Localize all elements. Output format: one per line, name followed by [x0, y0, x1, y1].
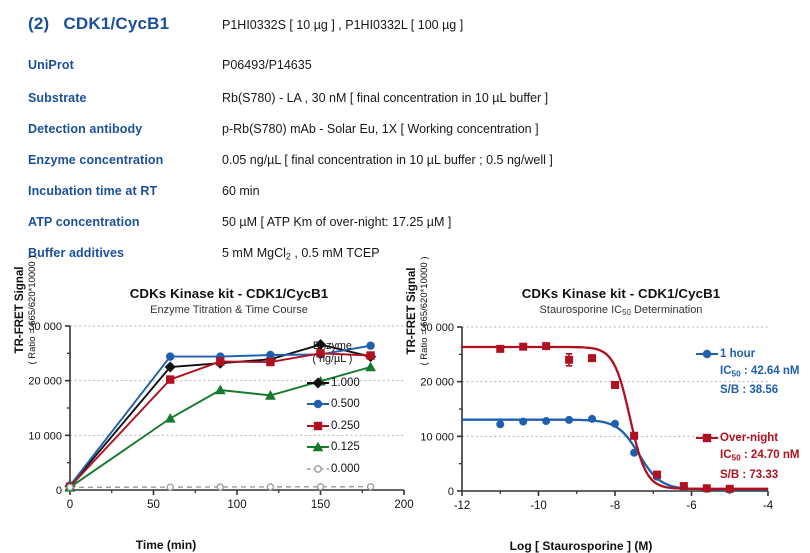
- legend-marker-icon: [305, 376, 331, 390]
- legend-item-enzyme-0.250[interactable]: 0.250: [305, 416, 360, 435]
- chart-left-legend: Enzyme ( ng/µL ) 1.0000.5000.2500.1250.0…: [305, 340, 360, 481]
- chart-left-x-axis-title: Time (min): [0, 538, 366, 552]
- legend-item-enzyme-0.125[interactable]: 0.125: [305, 438, 360, 457]
- spec-row-title: (2)CDK1/CycB1 P1HI0332S [ 10 µg ] , P1HI…: [28, 14, 728, 48]
- atp-concentration-label: ATP concentration: [28, 215, 222, 229]
- svg-text:100: 100: [227, 499, 246, 511]
- legend-label: 0.125: [331, 441, 360, 453]
- incubation-time-value: 60 min: [222, 184, 260, 198]
- svg-text:-10: -10: [530, 500, 547, 512]
- svg-text:-6: -6: [686, 500, 696, 512]
- spec-row-uniprot: UniProt P06493/P14635: [28, 58, 728, 85]
- chart-left-subtitle: Enzyme Titration & Time Course: [18, 304, 418, 316]
- spec-row-enzyme-concentration: Enzyme concentration 0.05 ng/µL [ final …: [28, 153, 728, 180]
- svg-text:0: 0: [56, 485, 62, 497]
- incubation-time-label: Incubation time at RT: [28, 184, 222, 198]
- svg-text:0: 0: [67, 499, 73, 511]
- substrate-value: Rb(S780) - LA , 30 nM [ final concentrat…: [222, 91, 548, 105]
- svg-text:10 000: 10 000: [420, 432, 454, 444]
- detection-antibody-label: Detection antibody: [28, 122, 222, 136]
- svg-text:30 000: 30 000: [28, 321, 62, 333]
- svg-text:-12: -12: [454, 500, 471, 512]
- legend-label: 0.500: [331, 398, 360, 410]
- legend-label: 0.000: [331, 463, 360, 475]
- legend-ic50-value: IC50 : 24.70 nM: [720, 447, 810, 466]
- svg-text:-4: -4: [763, 500, 774, 512]
- legend-item-enzyme-0.000[interactable]: 0.000: [305, 459, 360, 478]
- chart-left-title: CDKs Kinase kit - CDK1/CycB1: [18, 286, 418, 301]
- detection-antibody-value: p-Rb(S780) mAb - Solar Eu, 1X [ Working …: [222, 122, 539, 136]
- legend-item-enzyme-0.500[interactable]: 0.500: [305, 395, 360, 414]
- legend-label: 0.250: [331, 420, 360, 432]
- uniprot-label: UniProt: [28, 58, 222, 72]
- enzyme-concentration-value: 0.05 ng/µL [ final concentration in 10 µ…: [222, 153, 553, 167]
- svg-text:30 000: 30 000: [420, 322, 454, 334]
- spec-row-buffer-additives: Buffer additives 5 mM MgCl2 , 0.5 mM TCE…: [28, 246, 728, 273]
- legend-ic50-value: IC50 : 42.64 nM: [720, 363, 810, 382]
- buffer-additives-value: 5 mM MgCl2 , 0.5 mM TCEP: [222, 246, 380, 262]
- spec-row-atp-concentration: ATP concentration 50 µM [ ATP Km of over…: [28, 215, 728, 242]
- target-title: (2)CDK1/CycB1: [28, 14, 222, 34]
- chart-right-subtitle: Staurosporine IC50 Determination: [410, 304, 808, 317]
- legend-left-heading: Enzyme ( ng/µL ): [305, 340, 360, 366]
- chart-right-x-axis-title: Log [ Staurosporine ] (M): [382, 539, 780, 553]
- spec-table: (2)CDK1/CycB1 P1HI0332S [ 10 µg ] , P1HI…: [28, 14, 728, 277]
- legend-group-over-night[interactable]: Over-nightIC50 : 24.70 nMS/B : 73.33: [694, 429, 810, 483]
- legend-marker-icon: [305, 419, 331, 433]
- legend-signal-to-background: S/B : 38.56: [720, 382, 810, 399]
- chart-right-title: CDKs Kinase kit - CDK1/CycB1: [410, 286, 808, 301]
- legend-item-enzyme-1.000[interactable]: 1.000: [305, 373, 360, 392]
- spec-row-incubation-time: Incubation time at RT 60 min: [28, 184, 728, 211]
- svg-text:0: 0: [448, 486, 454, 498]
- catalog-numbers: P1HI0332S [ 10 µg ] , P1HI0332L [ 100 µg…: [222, 18, 463, 32]
- spec-row-substrate: Substrate Rb(S780) - LA , 30 nM [ final …: [28, 91, 728, 118]
- uniprot-value: P06493/P14635: [222, 58, 312, 72]
- target-name: CDK1/CycB1: [63, 14, 169, 33]
- svg-text:50: 50: [147, 499, 160, 511]
- legend-marker-icon: [305, 462, 331, 476]
- legend-marker-icon: [694, 431, 720, 445]
- spec-row-detection-antibody: Detection antibody p-Rb(S780) mAb - Sola…: [28, 122, 728, 149]
- legend-series-name: Over-night: [720, 432, 778, 444]
- legend-series-name: 1 hour: [720, 348, 755, 360]
- legend-marker-icon: [305, 397, 331, 411]
- svg-text:10 000: 10 000: [28, 430, 62, 442]
- atp-concentration-value: 50 µM [ ATP Km of over-night: 17.25 µM ]: [222, 215, 451, 229]
- svg-text:-8: -8: [610, 500, 620, 512]
- enzyme-concentration-label: Enzyme concentration: [28, 153, 222, 167]
- legend-signal-to-background: S/B : 73.33: [720, 467, 810, 484]
- legend-label: 1.000: [331, 377, 360, 389]
- legend-group-1-hour[interactable]: 1 hourIC50 : 42.64 nMS/B : 38.56: [694, 345, 810, 399]
- substrate-label: Substrate: [28, 91, 222, 105]
- svg-text:20 000: 20 000: [28, 376, 62, 388]
- svg-text:150: 150: [311, 499, 330, 511]
- target-index: (2): [28, 14, 49, 33]
- svg-text:20 000: 20 000: [420, 377, 454, 389]
- buffer-additives-label: Buffer additives: [28, 246, 222, 260]
- legend-marker-icon: [694, 347, 720, 361]
- legend-marker-icon: [305, 440, 331, 454]
- chart-right-legend: 1 hourIC50 : 42.64 nMS/B : 38.56Over-nig…: [694, 345, 810, 484]
